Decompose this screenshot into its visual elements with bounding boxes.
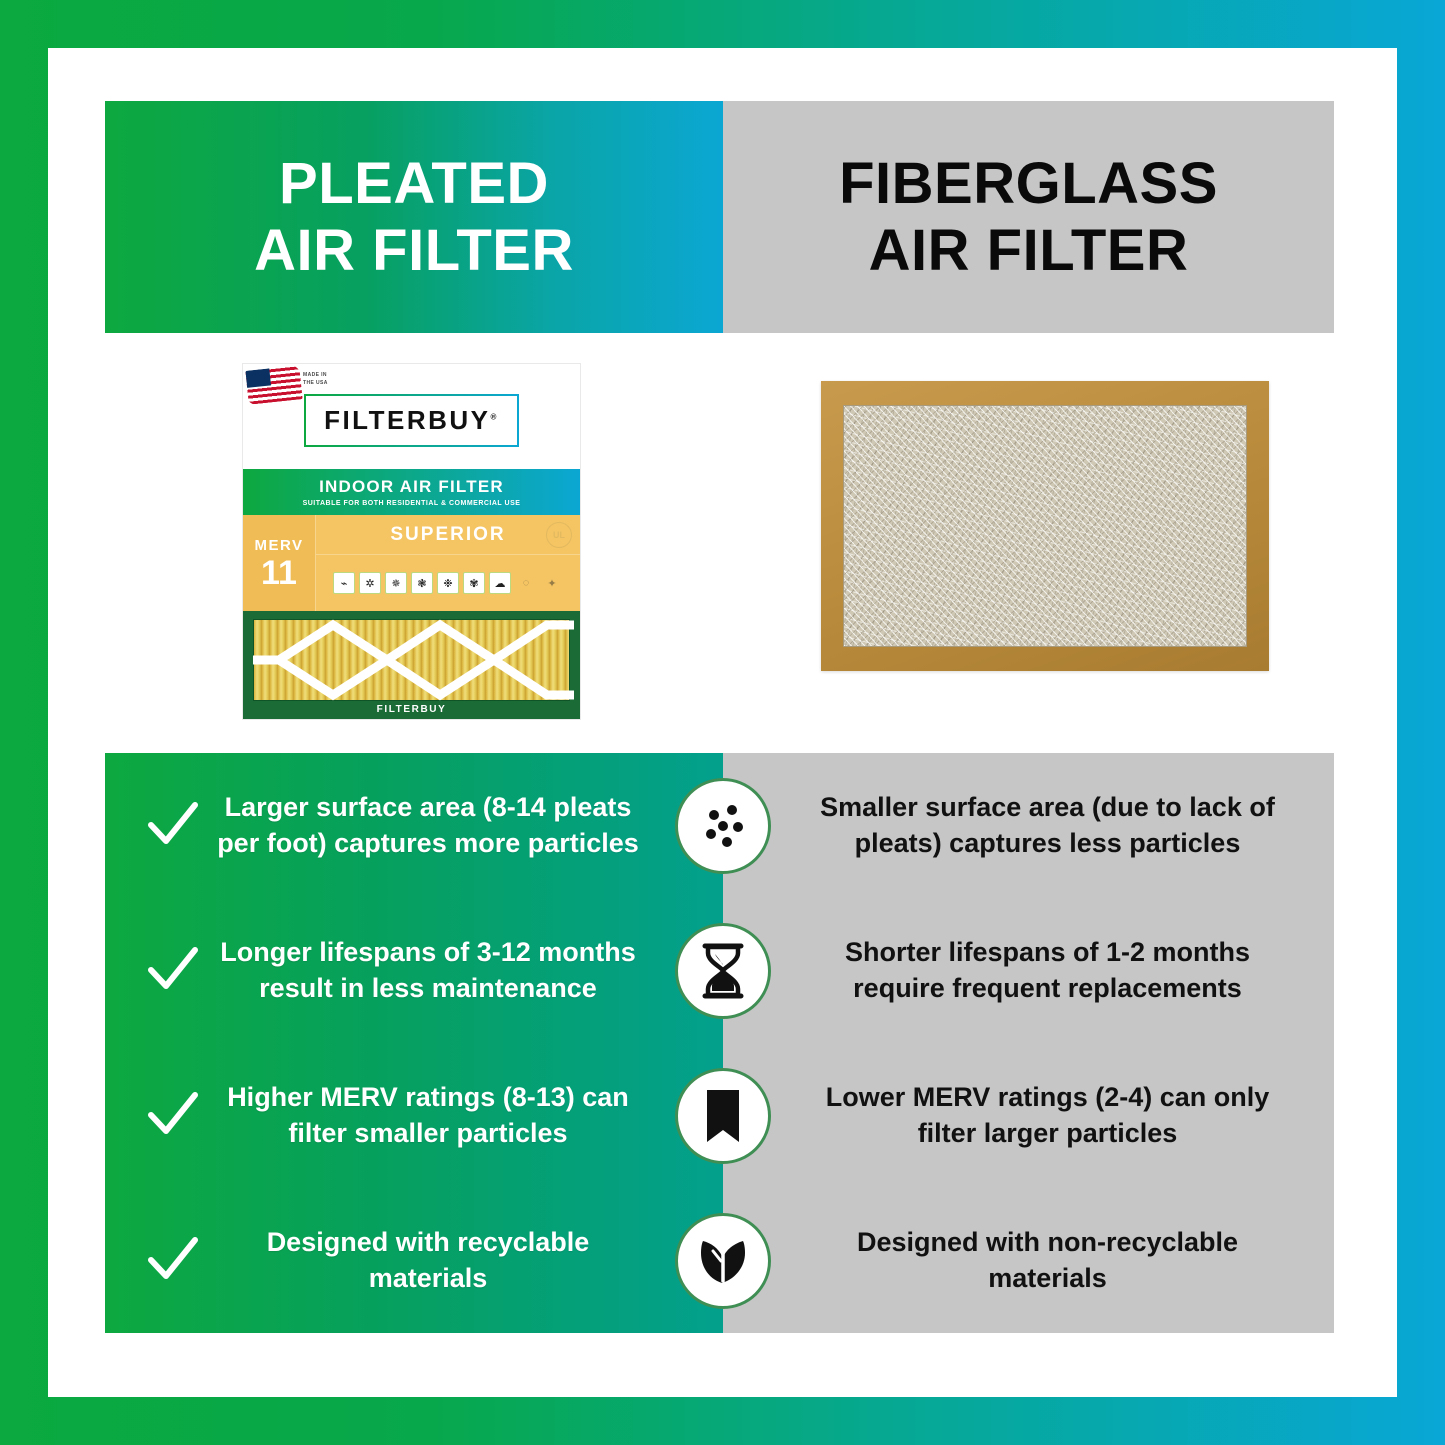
feature-right-cell: Smaller surface area (due to lack of ple… (723, 753, 1334, 898)
capture-icons-strip: ⌁ ✲ ✵ ❃ ❉ ✾ ☁ ◌ ✦ (316, 555, 580, 611)
feature-left-cell: Designed with recyclable materials (105, 1188, 723, 1333)
diamond-support-grid (253, 619, 574, 701)
hourglass-icon (675, 923, 771, 1019)
checkmark-icon (145, 1233, 201, 1289)
feature-comparison-section: Larger surface area (8-14 pleats per foo… (105, 753, 1334, 1333)
fiberglass-mesh-texture (843, 405, 1247, 647)
made-in-usa-label: MADE INTHE USA (303, 372, 328, 387)
registered-mark: ® (491, 412, 499, 421)
header-fiberglass-line2: AIR FILTER (839, 217, 1218, 284)
mold-icon: ❃ (411, 572, 433, 594)
feature-right-cell: Designed with non-recyclable materials (723, 1188, 1334, 1333)
feature-left-cell: Larger surface area (8-14 pleats per foo… (105, 753, 723, 898)
header-pleated-line1: PLEATED (254, 150, 574, 217)
merv-label: MERV (243, 537, 315, 554)
leaf-icon-glyph (693, 1231, 753, 1291)
filterbuy-logo-text: FILTERBUY® (324, 405, 499, 436)
dust-icon: ⌁ (333, 572, 355, 594)
fiberglass-filter-image (821, 381, 1269, 671)
header-fiberglass-line1: FIBERGLASS (839, 150, 1218, 217)
box-tier-label: SUPERIOR (390, 524, 505, 546)
feature-row: Larger surface area (8-14 pleats per foo… (105, 753, 1334, 898)
box-merv-section: MERV 11 SUPERIOR UL ⌁ ✲ ✵ ❃ ❉ ✾ (243, 515, 580, 611)
pleated-product-cell: MADE INTHE USA FILTERBUY® INDOOR AIR FIL… (105, 333, 723, 753)
usa-flag-icon (245, 365, 302, 404)
bookmark-icon (675, 1068, 771, 1164)
comparison-headers: PLEATED AIR FILTER FIBERGLASS AIR FILTER (105, 101, 1334, 333)
feature-left-cell: Longer lifespans of 3-12 months result i… (105, 898, 723, 1043)
merv-badge: MERV 11 (243, 515, 316, 611)
box-indoor-band: INDOOR AIR FILTER SUITABLE FOR BOTH RESI… (243, 469, 580, 515)
feature-row: Higher MERV ratings (8-13) can filter sm… (105, 1043, 1334, 1188)
filterbuy-logo: FILTERBUY® (304, 394, 519, 447)
header-pleated: PLEATED AIR FILTER (105, 101, 723, 333)
feature-left-text: Larger surface area (8-14 pleats per foo… (211, 790, 645, 860)
fiberglass-product-cell (723, 333, 1334, 753)
feature-right-text: Shorter lifespans of 1-2 months require … (801, 935, 1294, 1005)
smoke-icon: ☁ (489, 572, 511, 594)
box-tier-row: SUPERIOR UL (316, 515, 580, 555)
merv-value: 11 (243, 556, 315, 590)
feature-left-text: Higher MERV ratings (8-13) can filter sm… (211, 1080, 645, 1150)
header-fiberglass: FIBERGLASS AIR FILTER (723, 101, 1334, 333)
feature-row: Designed with recyclable materials Desig… (105, 1188, 1334, 1333)
feature-right-cell: Lower MERV ratings (2-4) can only filter… (723, 1043, 1334, 1188)
box-filter-illustration: FILTERBUY (243, 611, 580, 719)
bookmark-icon-glyph (698, 1085, 748, 1147)
checkmark-icon (145, 798, 201, 854)
pollen-icon: ❉ (437, 572, 459, 594)
header-fiberglass-title: FIBERGLASS AIR FILTER (839, 150, 1218, 285)
feature-row: Longer lifespans of 3-12 months result i… (105, 898, 1334, 1043)
particles-icon-glyph (692, 795, 754, 857)
checkmark-icon (145, 943, 201, 999)
feature-right-text: Smaller surface area (due to lack of ple… (801, 790, 1294, 860)
box-band-sub: SUITABLE FOR BOTH RESIDENTIAL & COMMERCI… (243, 500, 580, 507)
particles-icon (675, 778, 771, 874)
filterbuy-box-image: MADE INTHE USA FILTERBUY® INDOOR AIR FIL… (243, 364, 580, 719)
header-pleated-title: PLEATED AIR FILTER (254, 150, 574, 285)
ul-certification-icon: UL (546, 522, 572, 548)
box-band-main: INDOOR AIR FILTER (243, 477, 580, 497)
odor-icon: ◌ (515, 572, 537, 594)
feature-rows: Larger surface area (8-14 pleats per foo… (105, 753, 1334, 1333)
feature-left-text: Designed with recyclable materials (211, 1225, 645, 1295)
virus-icon: ✦ (541, 572, 563, 594)
feature-left-text: Longer lifespans of 3-12 months result i… (211, 935, 645, 1005)
hourglass-icon-glyph (695, 940, 751, 1002)
feature-left-cell: Higher MERV ratings (8-13) can filter sm… (105, 1043, 723, 1188)
product-images-section: MADE INTHE USA FILTERBUY® INDOOR AIR FIL… (105, 333, 1334, 753)
header-pleated-line2: AIR FILTER (254, 217, 574, 284)
leaf-icon (675, 1213, 771, 1309)
box-tier-section: SUPERIOR UL ⌁ ✲ ✵ ❃ ❉ ✾ ☁ ◌ ✦ (316, 515, 580, 611)
box-bottom-brand: FILTERBUY (243, 704, 580, 715)
feature-right-text: Lower MERV ratings (2-4) can only filter… (801, 1080, 1294, 1150)
pet-dander-icon: ✾ (463, 572, 485, 594)
checkmark-icon (145, 1088, 201, 1144)
insect-icon: ✲ (359, 572, 381, 594)
bacteria-icon: ✵ (385, 572, 407, 594)
box-header: MADE INTHE USA FILTERBUY® (243, 364, 580, 469)
feature-right-text: Designed with non-recyclable materials (801, 1225, 1294, 1295)
feature-right-cell: Shorter lifespans of 1-2 months require … (723, 898, 1334, 1043)
